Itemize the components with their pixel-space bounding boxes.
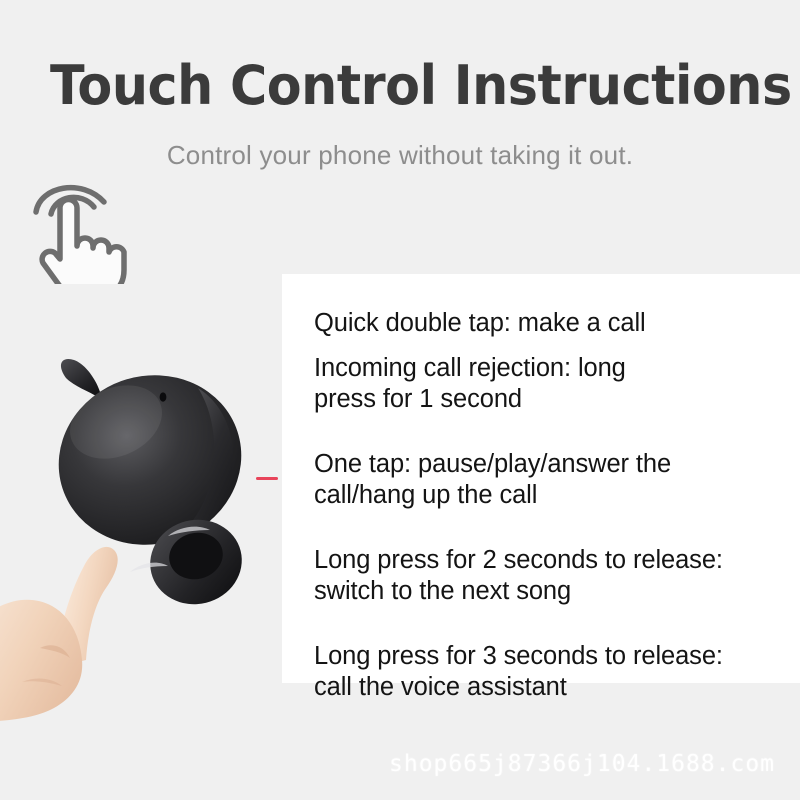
- list-item: Long press for 3 seconds to release: cal…: [314, 641, 784, 703]
- red-dash-marker: [256, 477, 278, 480]
- list-item: One tap: pause/play/answer the call/hang…: [314, 449, 784, 511]
- page-title: Touch Control Instructions: [50, 56, 717, 116]
- list-item: Incoming call rejection: long press for …: [314, 353, 784, 415]
- touch-control-instructions-poster: Touch Control Instructions Control your …: [0, 0, 800, 800]
- instruction-list: Quick double tap: make a call Incoming c…: [314, 308, 784, 703]
- product-photo: [0, 330, 300, 730]
- list-item: Quick double tap: make a call: [314, 308, 784, 339]
- hand-tap-icon: [24, 166, 140, 284]
- watermark: shop665j87366j104.1688.com: [389, 751, 775, 777]
- list-item: Long press for 2 seconds to release: swi…: [314, 545, 784, 607]
